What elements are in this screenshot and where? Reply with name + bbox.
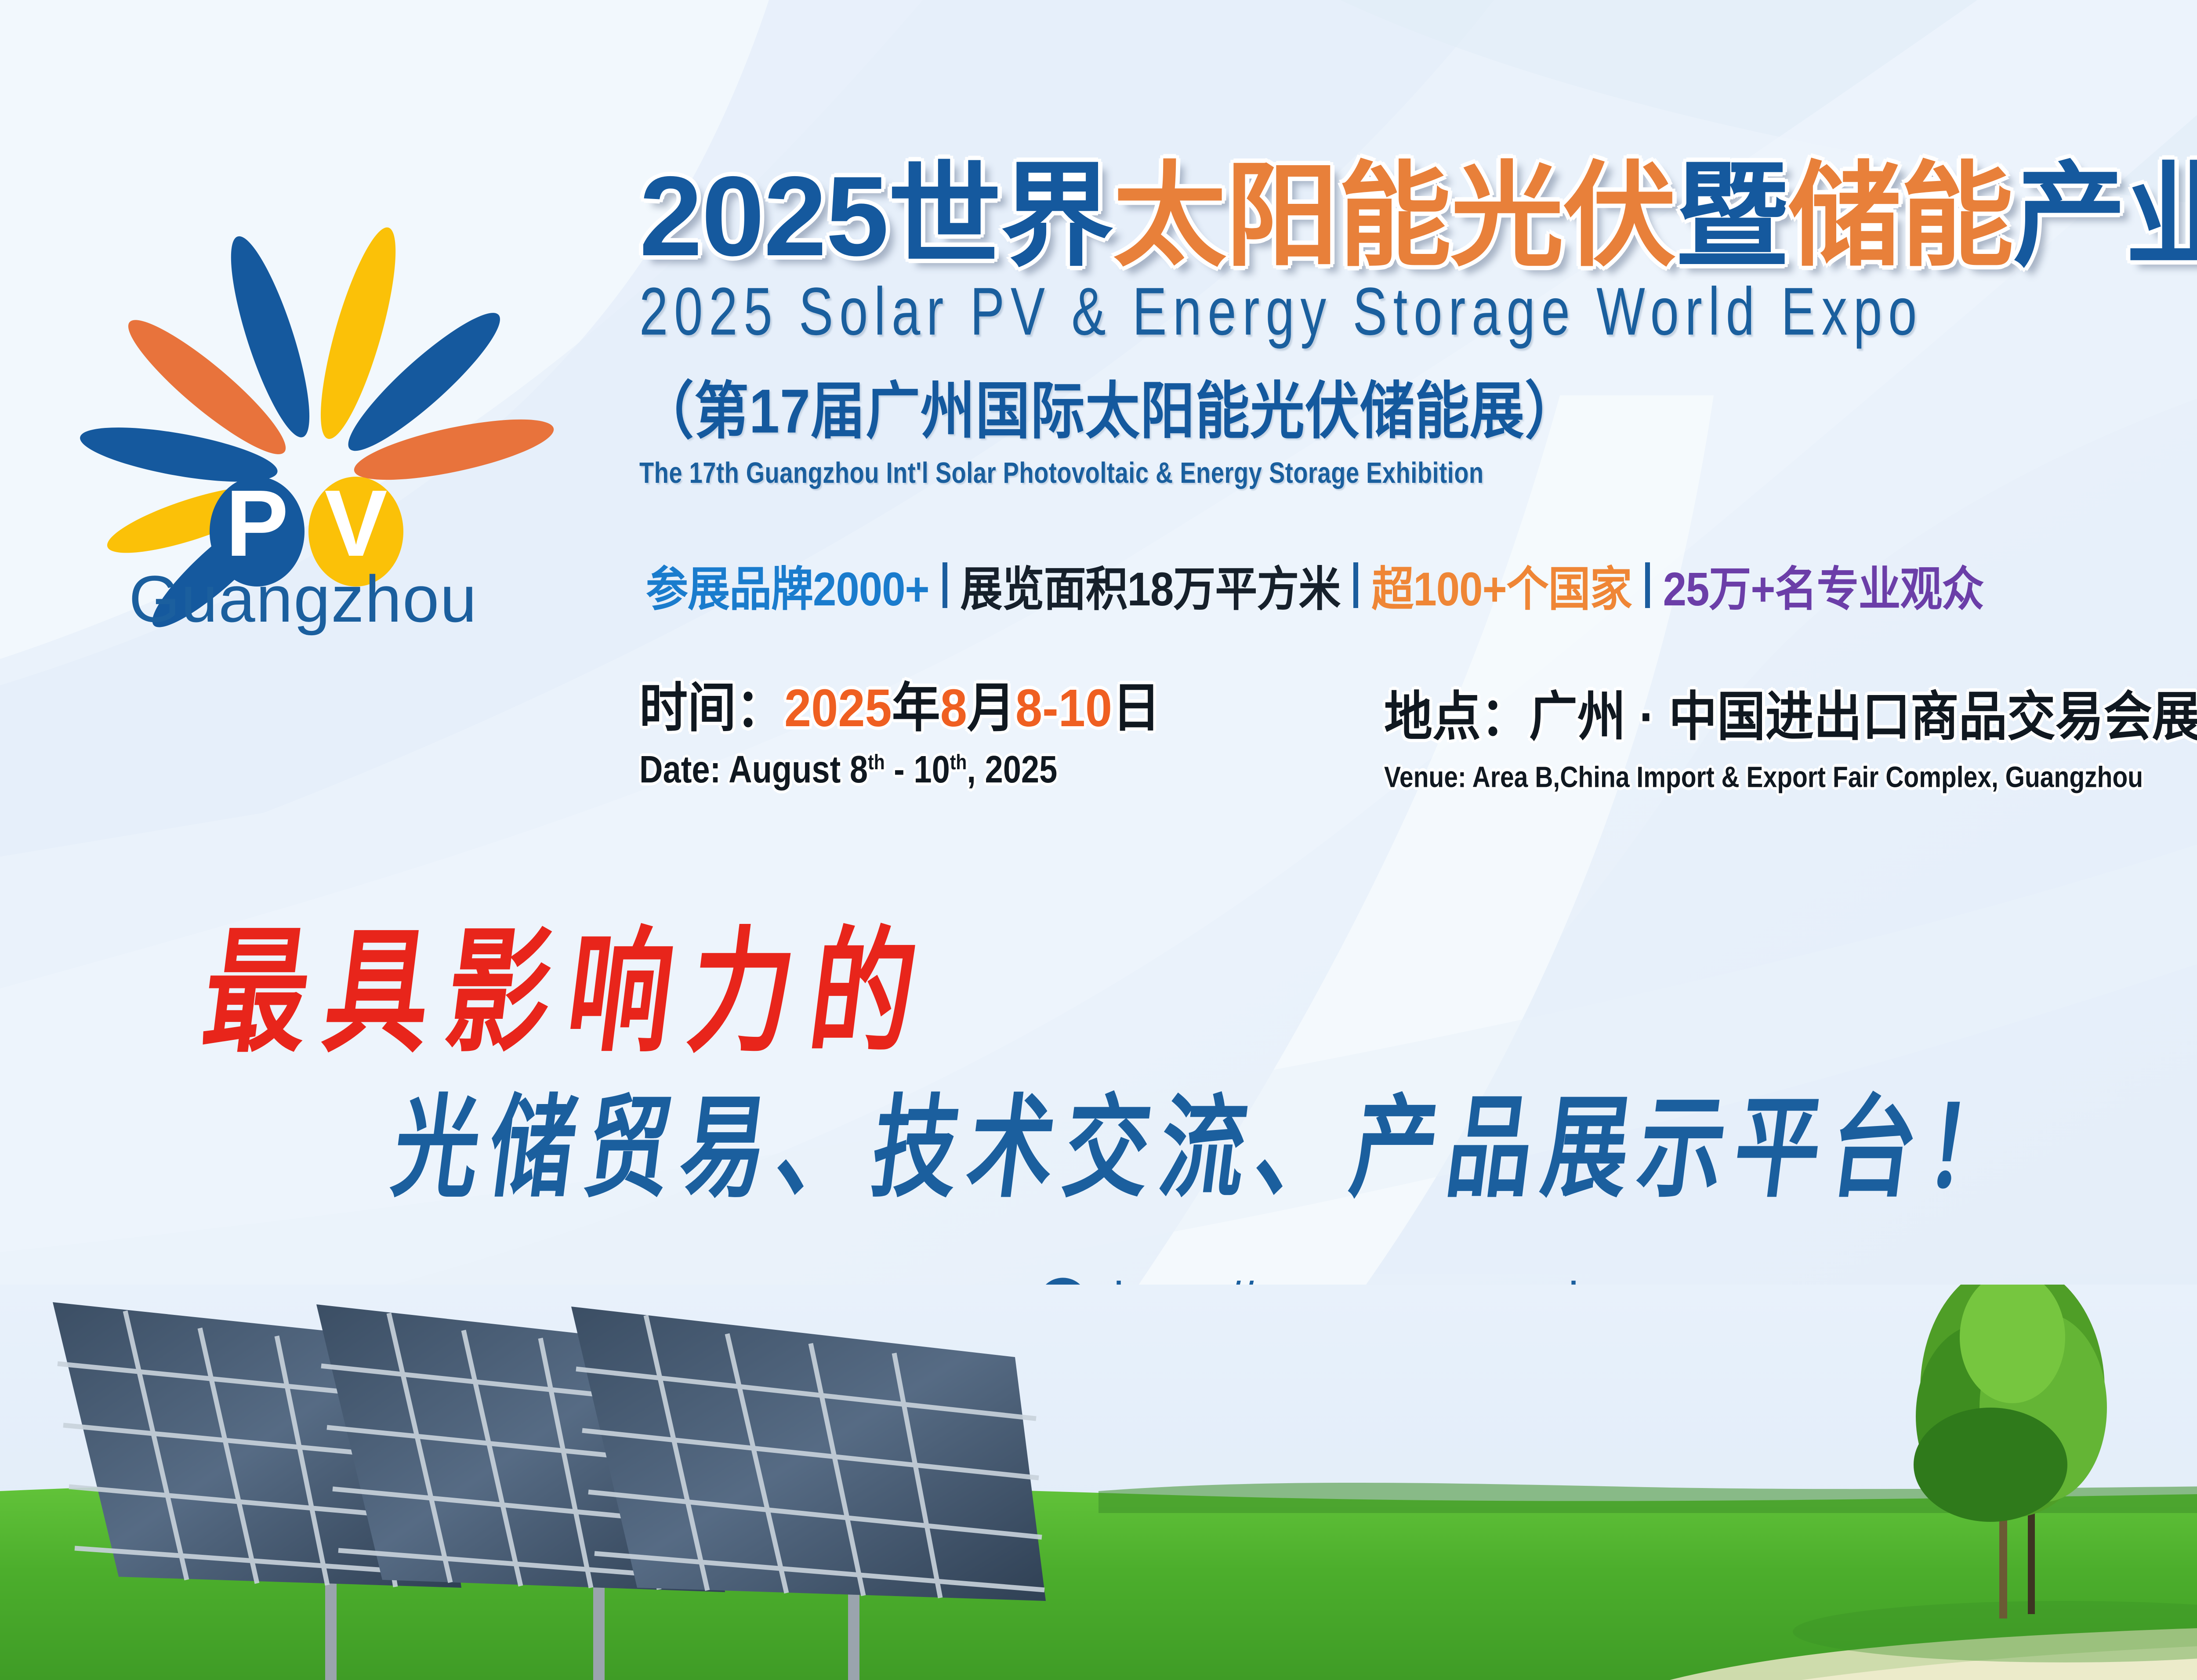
landscape-illustration <box>0 1285 2197 1680</box>
date-year-unit: 年 <box>892 678 940 738</box>
venue-block: 地点：广州 · 中国进出口商品交易会展馆B区 Venue: Area B,Chi… <box>1384 677 2197 792</box>
pv-guangzhou-logo: P V Guangzhou <box>57 145 576 637</box>
title-part-0: 2025世界 <box>639 152 1113 279</box>
date-en-mid: - 10 <box>885 748 950 791</box>
date-block: 时间：2025年8月8-10日 Date: August 8th - 10th,… <box>639 668 1160 789</box>
venue-label: 地点： <box>1384 687 1529 746</box>
date-month: 8 <box>940 678 967 738</box>
chinese-subtitle: （第17届广州国际太阳能光伏储能展） <box>639 361 2197 451</box>
slogan-line-2: 光储贸易、技术交流、产品展示平台！ <box>386 1058 2034 1218</box>
date-month-unit: 月 <box>967 678 1015 738</box>
date-en-sup2: th <box>950 750 967 774</box>
title-part-4: 产业博览会 <box>2013 152 2197 279</box>
stat-separator <box>1353 562 1358 608</box>
date-chinese: 时间：2025年8月8-10日 <box>639 664 1160 742</box>
date-days: 8-10 <box>1015 678 1112 738</box>
logo-wordmark: Guangzhou <box>129 562 478 636</box>
english-subtitle: The 17th Guangzhou Int'l Solar Photovolt… <box>639 456 2197 490</box>
stat-exhibiting-brands: 参展品牌2000+ <box>646 551 929 619</box>
venue-chinese: 地点：广州 · 中国进出口商品交易会展馆B区 <box>1384 673 2197 750</box>
date-english: Date: August 8th - 10th, 2025 <box>639 747 1135 792</box>
title-part-3: 储能 <box>1788 152 2013 279</box>
poster-root: P V Guangzhou 2025世界太阳能光伏暨储能产业博览会 2025 S… <box>0 0 2197 1680</box>
date-en-sup1: th <box>868 750 885 774</box>
title-part-2: 暨 <box>1675 152 1788 279</box>
venue-value: 广州 · 中国进出口商品交易会展馆B区 <box>1529 687 2197 746</box>
date-year: 2025 <box>784 678 892 738</box>
stat-countries: 超100+个国家 <box>1371 551 1631 619</box>
headline-block: 2025世界太阳能光伏暨储能产业博览会 2025 Solar PV & Ener… <box>639 156 2197 487</box>
stats-strip: 参展品牌2000+ 展览面积18万平方米 超100+个国家 25万+名专业观众 <box>646 554 1983 616</box>
logo-letter-v: V <box>324 470 387 576</box>
stat-exhibition-area: 展览面积18万平方米 <box>961 551 1341 619</box>
date-label: 时间： <box>639 678 784 738</box>
date-en-suffix: , 2025 <box>967 748 1057 791</box>
venue-english: Venue: Area B,China Import & Export Fair… <box>1384 760 2197 794</box>
chinese-main-title: 2025世界太阳能光伏暨储能产业博览会 <box>639 156 2197 276</box>
stat-visitors: 25万+名专业观众 <box>1663 551 1984 619</box>
date-days-unit: 日 <box>1112 678 1160 738</box>
logo-letter-p: P <box>225 470 288 576</box>
title-part-1: 太阳能光伏 <box>1113 152 1675 279</box>
english-main-title: 2025 Solar PV & Energy Storage World Exp… <box>639 273 2197 351</box>
stat-separator <box>1645 562 1650 608</box>
stat-separator <box>943 562 947 608</box>
date-en-prefix: Date: August 8 <box>639 748 868 791</box>
slogan-line-1: 最具影响力的 <box>195 883 946 1078</box>
